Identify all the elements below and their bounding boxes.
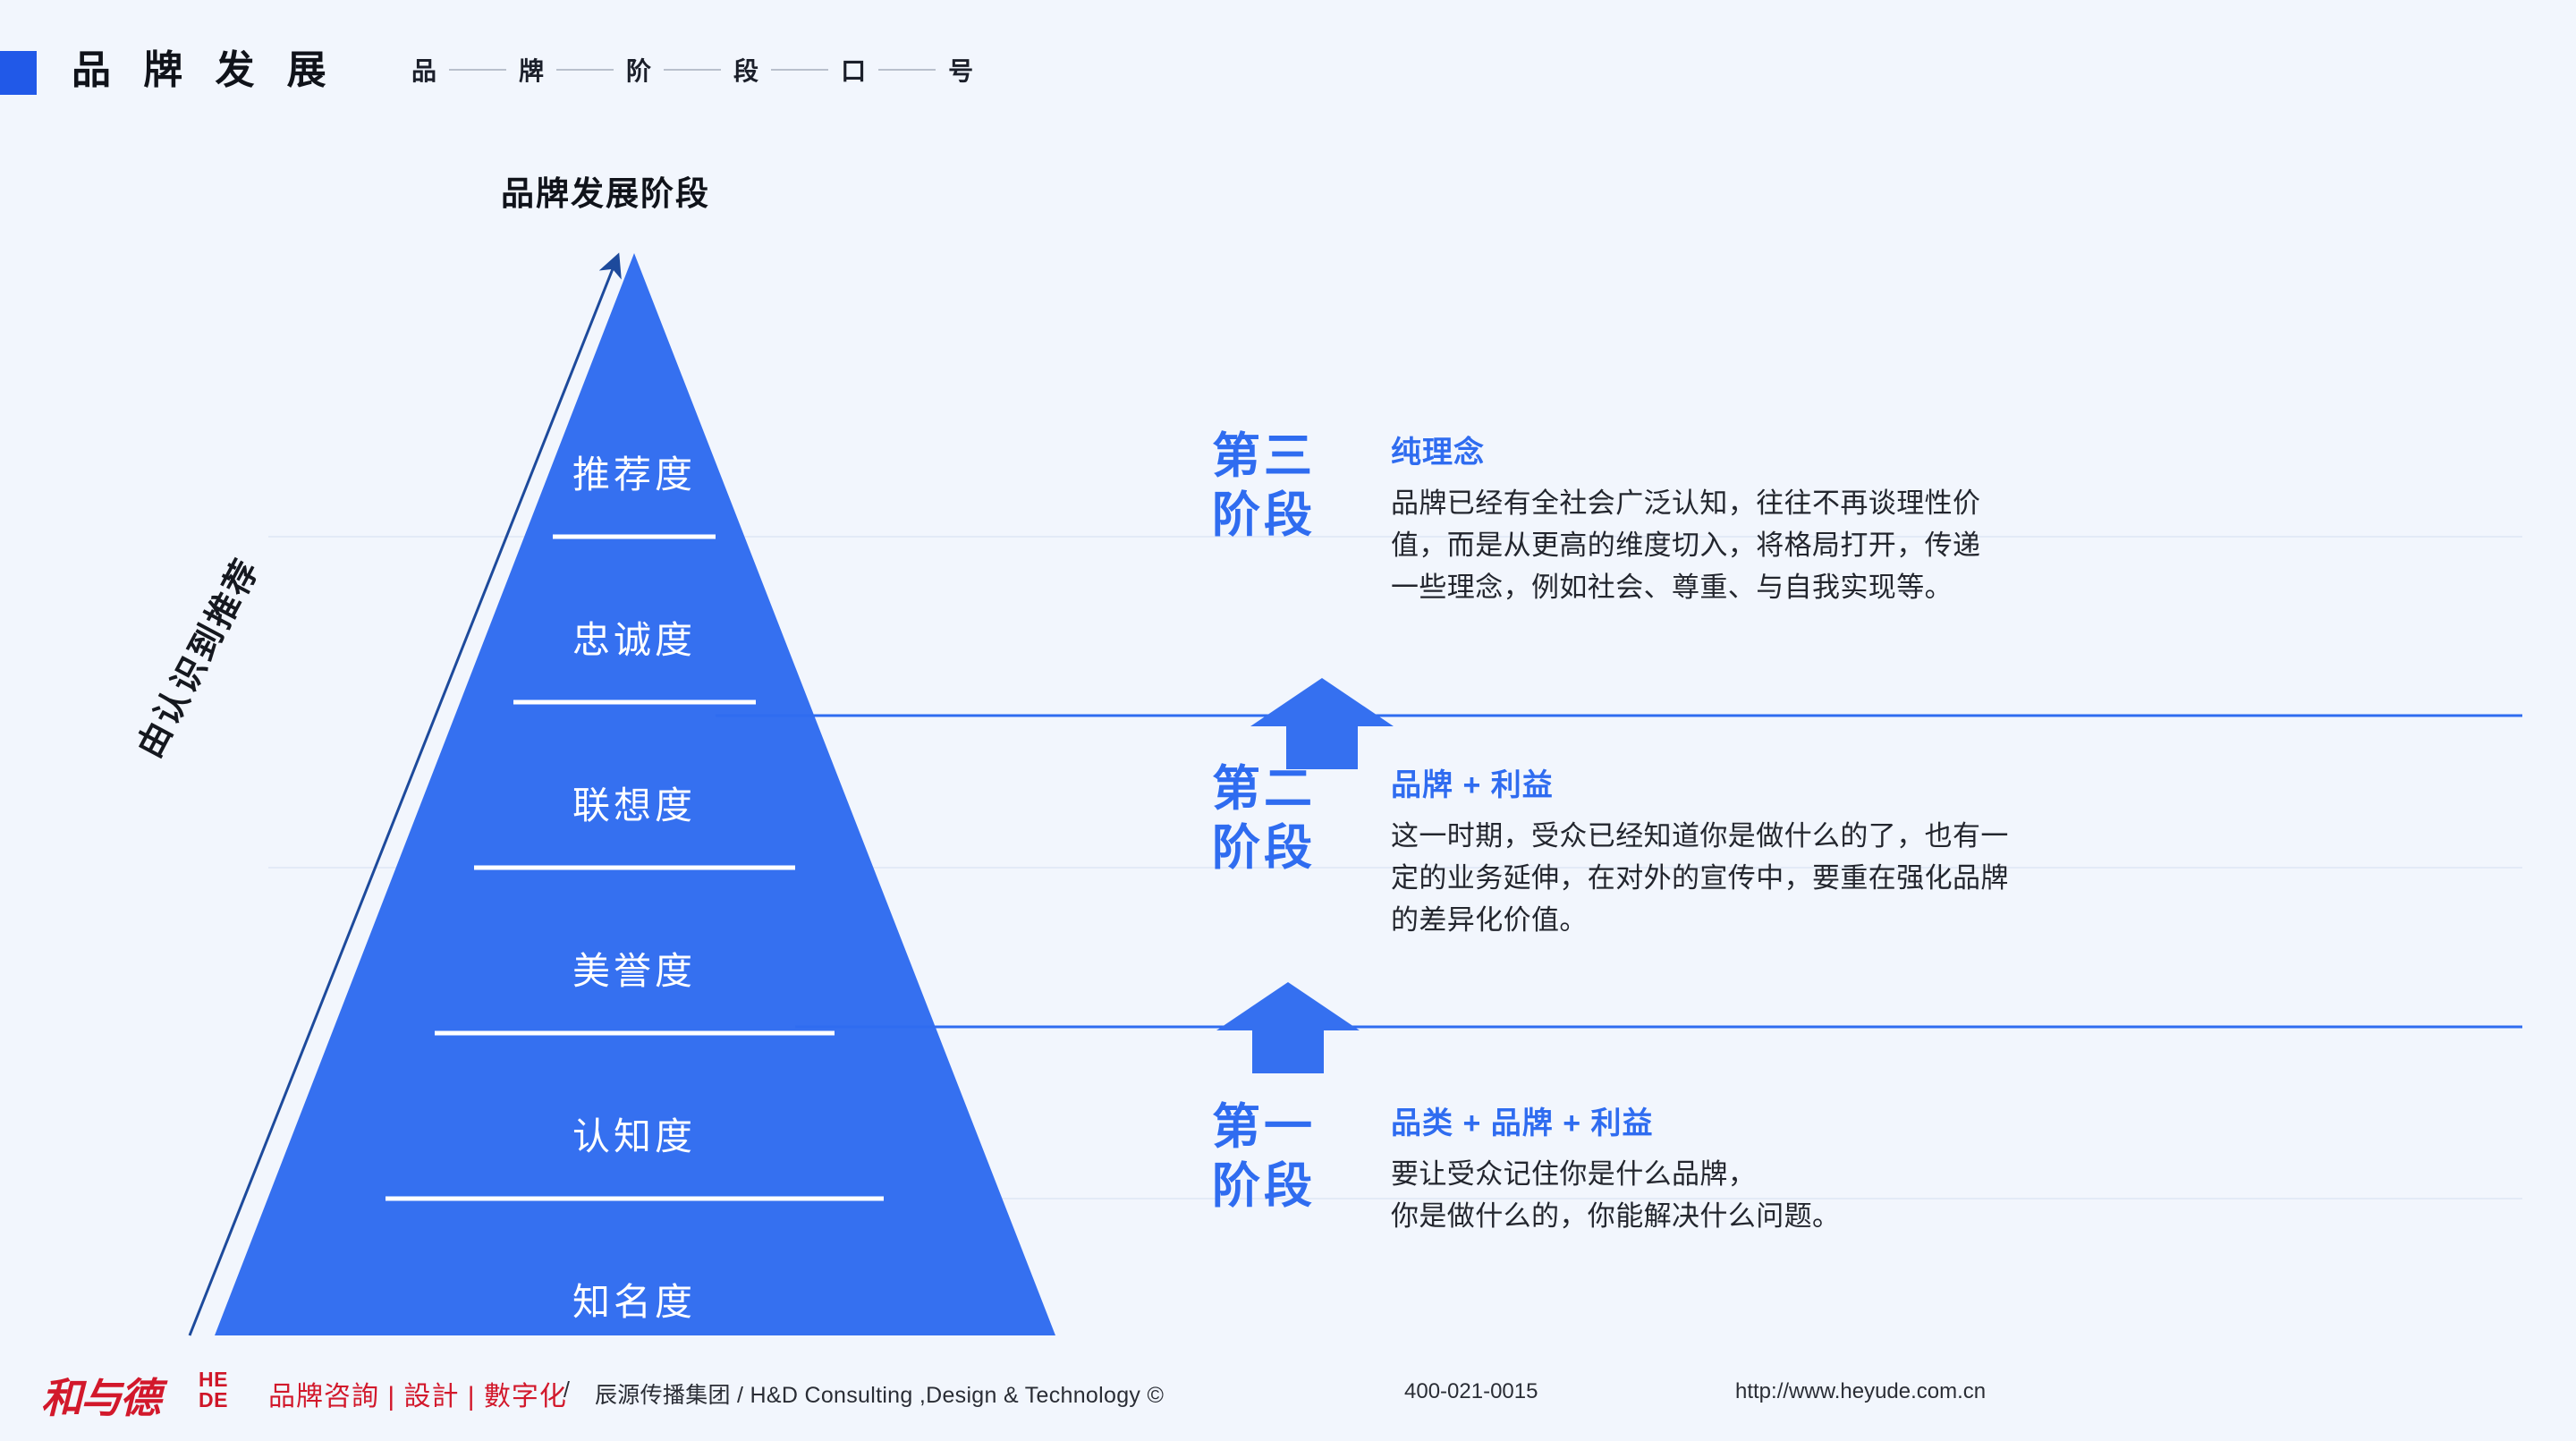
stage-one-description: 要让受众记住你是什么品牌， 你是做什么的，你能解决什么问题。: [1391, 1153, 1840, 1237]
stage-one-desc-line: 你是做什么的，你能解决什么问题。: [1391, 1195, 1840, 1237]
stage-two-number-line2: 阶段: [1212, 819, 1382, 878]
stage-three-number: 第三 阶段: [1212, 428, 1382, 546]
stage-two-number: 第二 阶段: [1212, 760, 1382, 878]
brand-logo-mark: HE DE: [199, 1369, 250, 1411]
stage-two-desc-line: 定的业务延伸，在对外的宣传中，要重在强化品牌: [1391, 857, 2009, 899]
stage-block-one: 第一 阶段 品类 + 品牌 + 利益 要让受众记住你是什么品牌， 你是做什么的，…: [1212, 1098, 1840, 1237]
brand-logo-calligraphy: 和与德: [41, 1366, 159, 1425]
footer-url[interactable]: http://www.heyude.com.cn: [1735, 1379, 1986, 1404]
stage-three-number-line2: 阶段: [1212, 487, 1382, 546]
stage-arrow-up-icon: [1250, 678, 1394, 769]
footer-separator: /: [563, 1377, 570, 1403]
stage-one-body: 品类 + 品牌 + 利益 要让受众记住你是什么品牌， 你是做什么的，你能解决什么…: [1382, 1098, 1840, 1237]
stage-one-number: 第一 阶段: [1212, 1098, 1382, 1216]
stage-three-body: 纯理念 品牌已经有全社会广泛认知，往往不再谈理性价 值，而是从更高的维度切入，将…: [1382, 428, 1980, 608]
pyramid-level-label: 认知度: [572, 1115, 696, 1157]
stage-three-number-line1: 第三: [1212, 428, 1382, 487]
stage-one-number-line1: 第一: [1212, 1098, 1382, 1157]
stage-two-desc-line: 这一时期，受众已经知道你是做什么的了，也有一: [1391, 815, 2009, 857]
stage-two-body: 品牌 + 利益 这一时期，受众已经知道你是做什么的了，也有一 定的业务延伸，在对…: [1382, 760, 2009, 941]
pyramid-level-label: 美誉度: [572, 950, 696, 992]
pyramid-level-label: 忠诚度: [572, 619, 696, 661]
pyramid-level-label: 推荐度: [572, 453, 696, 496]
stage-two-description: 这一时期，受众已经知道你是做什么的了，也有一 定的业务延伸，在对外的宣传中，要重…: [1391, 815, 2009, 941]
slide-canvas: 品 牌 发 展 品 牌 阶 段 口 号 品牌发展阶段: [0, 0, 2576, 1441]
stage-block-two: 第二 阶段 品牌 + 利益 这一时期，受众已经知道你是做什么的了，也有一 定的业…: [1212, 760, 2009, 941]
brand-logo-mark-line2: DE: [199, 1390, 250, 1411]
stage-block-three: 第三 阶段 纯理念 品牌已经有全社会广泛认知，往往不再谈理性价 值，而是从更高的…: [1212, 428, 1980, 608]
stage-three-desc-line: 一些理念，例如社会、尊重、与自我实现等。: [1391, 566, 1980, 608]
stage-three-desc-line: 品牌已经有全社会广泛认知，往往不再谈理性价: [1391, 482, 1980, 524]
stage-one-heading: 品类 + 品牌 + 利益: [1391, 1098, 1840, 1142]
stage-one-desc-line: 要让受众记住你是什么品牌，: [1391, 1153, 1840, 1195]
stage-arrow-up-icon: [1216, 982, 1360, 1073]
footer-company: 辰源传播集团 / H&D Consulting ,Design & Techno…: [595, 1377, 1164, 1410]
brand-logo-mark-line1: HE: [199, 1369, 250, 1390]
stage-two-desc-line: 的差异化价值。: [1391, 899, 2009, 941]
stage-three-desc-line: 值，而是从更高的维度切入，将格局打开，传递: [1391, 524, 1980, 566]
footer-phone[interactable]: 400-021-0015: [1404, 1379, 1538, 1404]
pyramid-level-label: 知名度: [572, 1281, 696, 1323]
stage-two-number-line1: 第二: [1212, 760, 1382, 819]
stage-three-description: 品牌已经有全社会广泛认知，往往不再谈理性价 值，而是从更高的维度切入，将格局打开…: [1391, 482, 1980, 608]
stage-three-heading: 纯理念: [1391, 428, 1980, 471]
pyramid-level-label: 联想度: [572, 784, 696, 826]
footer-services: 品牌咨詢 | 設計 | 數字化: [268, 1374, 567, 1413]
stage-two-heading: 品牌 + 利益: [1391, 760, 2009, 804]
stage-one-number-line2: 阶段: [1212, 1157, 1382, 1216]
